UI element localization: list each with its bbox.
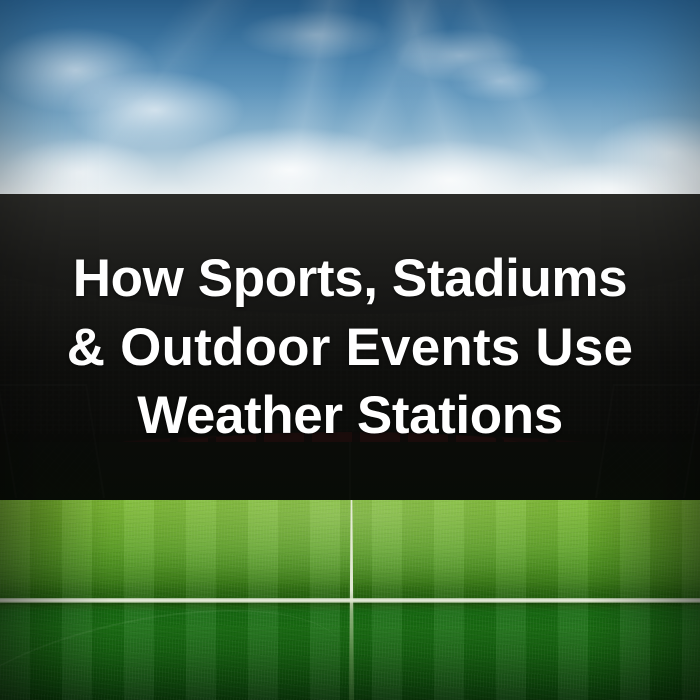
cloud-shape	[0, 125, 190, 205]
pitch-arc-marking	[0, 578, 361, 700]
cloud-shape	[370, 18, 550, 93]
cloud-shape	[130, 110, 450, 205]
cloud-shape	[210, 0, 420, 70]
banner-title: How Sports, Stadiums & Outdoor Events Us…	[0, 194, 700, 502]
banner-image: How Sports, Stadiums & Outdoor Events Us…	[0, 0, 700, 700]
sun-rays	[0, 0, 700, 205]
cloud-shape	[30, 55, 280, 165]
football-pitch	[0, 500, 700, 700]
cloud-shape	[0, 10, 190, 130]
sun-glow	[0, 21, 700, 206]
cloud-shape	[560, 100, 700, 205]
cloud-shape	[300, 125, 600, 205]
cloud-shape	[430, 52, 570, 110]
title-line-2: & Outdoor Events Use	[67, 314, 633, 383]
title-line-3: Weather Stations	[137, 382, 563, 451]
sky-background	[0, 0, 700, 205]
title-line-1: How Sports, Stadiums	[73, 245, 627, 314]
